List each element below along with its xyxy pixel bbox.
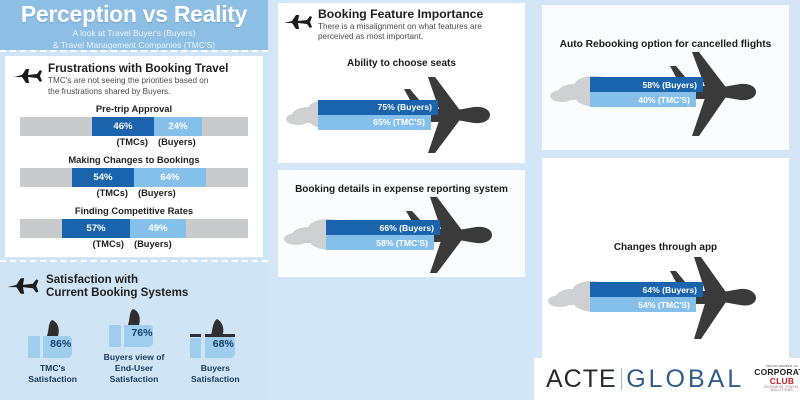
bar-legend-tmcs-0: (TMCs) xyxy=(20,137,154,147)
satisfaction-title-line2: Current Booking Systems xyxy=(46,286,188,300)
column-middle: Booking Feature Importance There is a mi… xyxy=(268,0,534,400)
bar-legend-buyers-2: (Buyers) xyxy=(130,239,226,249)
feature-bars-3: 64% (Buyers) 54% (TMC'S) xyxy=(590,282,703,312)
bar-segment-buyers-2: 49% xyxy=(130,219,186,238)
satisfaction-title-line1: Satisfaction with xyxy=(46,273,188,287)
satisfaction-caption-1-line1: Buyers view of xyxy=(93,352,174,362)
column-right: Auto Rebooking option for cancelled flig… xyxy=(534,0,800,400)
bar-track-2: 57% 49% xyxy=(20,219,248,238)
acte-logo-divider xyxy=(621,368,623,390)
booking-feature-panel: Booking Feature Importance There is a mi… xyxy=(278,3,525,163)
feature-panel-1: Booking details in expense reporting sys… xyxy=(278,170,525,277)
feature-label-3: Changes through app xyxy=(542,160,789,253)
satisfaction-caption-0-line2: Satisfaction xyxy=(12,374,93,384)
feature-bar-tmcs-2: 40% (TMC'S) xyxy=(590,92,696,107)
bar-segment-tmcs-1: 54% xyxy=(72,168,134,187)
page-title: Perception vs Reality xyxy=(0,2,268,27)
feature-label-0: Ability to choose seats xyxy=(278,58,525,69)
thumbs-row: 86% TMC's Satisfaction 76% Buyers v xyxy=(6,307,262,384)
booking-feature-desc-line2: perceived as most important. xyxy=(318,32,483,41)
satisfaction-section: Satisfaction with Current Booking System… xyxy=(0,263,268,386)
airplane-icon-satisfaction xyxy=(6,275,40,301)
bar-group-2: Finding Competitive Rates 57% 49% (TMCs)… xyxy=(13,205,255,249)
thumbs-up-icon-0: 86% xyxy=(22,318,84,362)
frustrations-card: Frustrations with Booking Travel TMC's a… xyxy=(5,56,263,257)
corporate-club-tagline-bottom: BUSINESS TRAVEL SOLUTIONS xyxy=(754,386,800,392)
feature-bar-tmcs-3: 54% (TMC'S) xyxy=(590,297,696,312)
bar-label-0: Pre-trip Approval xyxy=(13,103,255,114)
bar-group-0: Pre-trip Approval 46% 24% (TMCs) (Buyers… xyxy=(13,103,255,147)
feature-bar-buyers-3: 64% (Buyers) xyxy=(590,282,703,297)
hero-banner: Perception vs Reality A look at Travel B… xyxy=(0,0,268,50)
bar-segment-tmcs-0: 46% xyxy=(92,117,154,136)
feature-bars-0: 75% (Buyers) 65% (TMC'S) xyxy=(318,100,438,130)
frustrations-desc-line2: the frustrations shared by Buyers. xyxy=(48,87,228,97)
satisfaction-caption-0-line1: TMC's xyxy=(12,363,93,373)
feature-bar-tmcs-0: 65% (TMC'S) xyxy=(318,115,431,130)
infographic-page: Perception vs Reality A look at Travel B… xyxy=(0,0,800,400)
divider-dashed-top xyxy=(0,50,268,53)
booking-feature-desc-line1: There is a misalignment on what features… xyxy=(318,22,483,31)
bar-legend-buyers-1: (Buyers) xyxy=(134,188,246,198)
feature-bars-2: 58% (Buyers) 40% (TMC'S) xyxy=(590,77,703,107)
feature-bars-1: 66% (Buyers) 58% (TMC'S) xyxy=(326,220,440,250)
satisfaction-caption-1-line3: Satisfaction xyxy=(93,374,174,384)
feature-panel-3: Changes through app xyxy=(542,158,789,358)
satisfaction-value-2: 68% xyxy=(202,338,244,350)
bar-segment-tmcs-2: 57% xyxy=(62,219,130,238)
bar-label-2: Finding Competitive Rates xyxy=(13,205,255,216)
global-logo-text: GLOBAL xyxy=(626,366,744,392)
satisfaction-item-1: 76% Buyers view of End-User Satisfaction xyxy=(93,307,174,384)
feature-label-1: Booking details in expense reporting sys… xyxy=(278,172,525,195)
satisfaction-item-2: 68% Buyers Satisfaction xyxy=(175,318,256,384)
bar-legend-1: (TMCs) (Buyers) xyxy=(20,188,248,198)
frustrations-desc-line1: TMC's are not seeing the priorities base… xyxy=(48,76,228,86)
plane-chart-0: 75% (Buyers) 65% (TMC'S) xyxy=(278,69,525,163)
hero-subtitle-line2: & Travel Management Companies (TMC'S) xyxy=(0,40,268,51)
booking-feature-header: Booking Feature Importance There is a mi… xyxy=(278,3,525,42)
bar-label-1: Making Changes to Bookings xyxy=(13,154,255,165)
thumbs-up-icon-1: 76% xyxy=(103,307,165,351)
feature-bar-buyers-1: 66% (Buyers) xyxy=(326,220,440,235)
logo-bar: ACTE GLOBAL PROUD MEMBER OF CORPORATE CL… xyxy=(534,358,800,400)
feature-bar-buyers-0: 75% (Buyers) xyxy=(318,100,438,115)
bar-segment-buyers-0: 24% xyxy=(154,117,202,136)
bar-legend-0: (TMCs) (Buyers) xyxy=(20,137,248,147)
satisfaction-caption-1-line2: End-User xyxy=(93,363,174,373)
frustrations-title: Frustrations with Booking Travel xyxy=(48,62,228,75)
corporate-club-name: CORPORATE CLUB xyxy=(754,368,800,385)
plane-chart-1: 66% (Buyers) 58% (TMC'S) xyxy=(278,195,525,279)
bar-group-1: Making Changes to Bookings 54% 64% (TMCs… xyxy=(13,154,255,198)
acte-global-logo: ACTE GLOBAL xyxy=(546,366,744,392)
feature-bar-tmcs-1: 58% (TMC'S) xyxy=(326,235,434,250)
plane-chart-3: 64% (Buyers) 54% (TMC'S) xyxy=(542,253,789,353)
hero-subtitle-line1: A look at Travel Buyer's (Buyers) xyxy=(0,28,268,39)
bar-legend-2: (TMCs) (Buyers) xyxy=(20,239,248,249)
corporate-club-logo: PROUD MEMBER OF CORPORATE CLUB BUSINESS … xyxy=(754,365,800,392)
airplane-icon xyxy=(13,66,43,90)
thumbs-up-icon-2: 68% xyxy=(184,318,246,362)
booking-feature-title: Booking Feature Importance xyxy=(318,8,483,21)
acte-logo-text: ACTE xyxy=(546,366,617,392)
satisfaction-caption-2-line1: Buyers xyxy=(175,363,256,373)
corporate-club-word-club: CLUB xyxy=(770,376,794,386)
column-left: Perception vs Reality A look at Travel B… xyxy=(0,0,268,400)
satisfaction-item-0: 86% TMC's Satisfaction xyxy=(12,318,93,384)
airplane-icon-booking-feature xyxy=(283,12,313,36)
frustrations-header: Frustrations with Booking Travel TMC's a… xyxy=(13,62,255,96)
satisfaction-caption-2-line2: Satisfaction xyxy=(175,374,256,384)
bar-track-0: 46% 24% xyxy=(20,117,248,136)
satisfaction-header: Satisfaction with Current Booking System… xyxy=(6,271,262,301)
satisfaction-value-0: 86% xyxy=(40,338,82,350)
plane-chart-2: 58% (Buyers) 40% (TMC'S) xyxy=(542,50,789,155)
bar-legend-buyers-0: (Buyers) xyxy=(154,137,242,147)
bar-legend-tmcs-1: (TMCs) xyxy=(20,188,134,198)
bar-legend-tmcs-2: (TMCs) xyxy=(20,239,130,249)
bar-track-1: 54% 64% xyxy=(20,168,248,187)
feature-panel-2: Auto Rebooking option for cancelled flig… xyxy=(542,5,789,150)
satisfaction-value-1: 76% xyxy=(121,327,163,339)
bar-segment-buyers-1: 64% xyxy=(134,168,206,187)
feature-bar-buyers-2: 58% (Buyers) xyxy=(590,77,703,92)
feature-label-2: Auto Rebooking option for cancelled flig… xyxy=(542,7,789,50)
